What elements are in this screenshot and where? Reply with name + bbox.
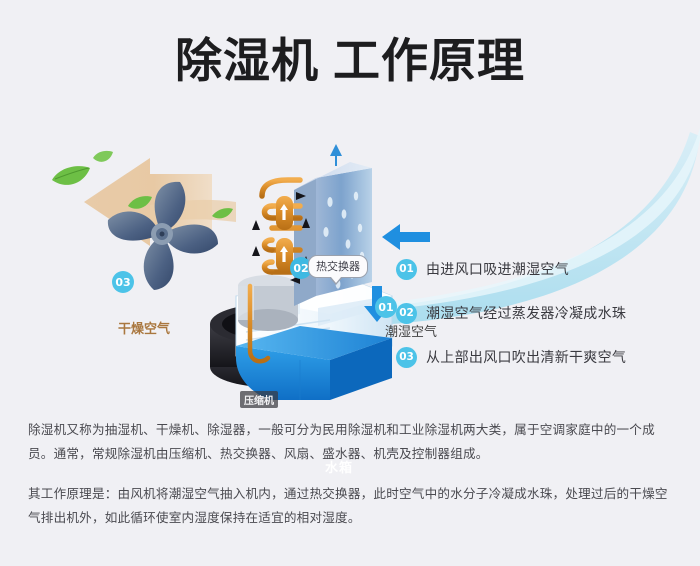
step-text-02: 潮湿空气经过蒸发器冷凝成水珠: [426, 303, 626, 323]
page-title: 除湿机工作原理: [0, 33, 700, 91]
step-badge-03: 03: [396, 347, 417, 368]
label-compressor: 压缩机: [240, 391, 278, 408]
step-text-01: 由进风口吸进潮湿空气: [426, 259, 569, 279]
paragraph-2: 其工作原理是：由风机将潮湿空气抽入机内，通过热交换器，此时空气中的水分子冷凝成水…: [28, 482, 676, 530]
step-item-02: 02 潮湿空气经过蒸发器冷凝成水珠: [396, 302, 686, 324]
description-block: 除湿机又称为抽湿机、干燥机、除湿器，一般可分为民用除湿机和工业除湿机两大类，属于…: [28, 418, 676, 530]
label-dry-air: 干燥空气: [118, 318, 170, 337]
page-title-part2: 工作原理: [333, 34, 525, 89]
paragraph-1: 除湿机又称为抽湿机、干燥机、除湿器，一般可分为民用除湿机和工业除湿机两大类，属于…: [28, 418, 676, 466]
step-text-03: 从上部出风口吹出清新干爽空气: [426, 347, 626, 367]
step-item-01: 01 由进风口吸进潮湿空气: [396, 258, 686, 280]
step-badge-01: 01: [396, 259, 417, 280]
page-title-part1: 除湿机: [175, 34, 319, 89]
diagram-badge-01: 01: [375, 296, 397, 318]
infographic-page: 除湿机工作原理: [0, 0, 700, 566]
diagram-badge-03: 03: [112, 271, 134, 293]
step-badge-02: 02: [396, 303, 417, 324]
step-list: 01 由进风口吸进潮湿空气 02 潮湿空气经过蒸发器冷凝成水珠 03 从上部出风…: [396, 258, 686, 390]
label-heat-exchanger: 热交换器: [308, 255, 368, 278]
step-item-03: 03 从上部出风口吹出清新干爽空气: [396, 346, 686, 368]
